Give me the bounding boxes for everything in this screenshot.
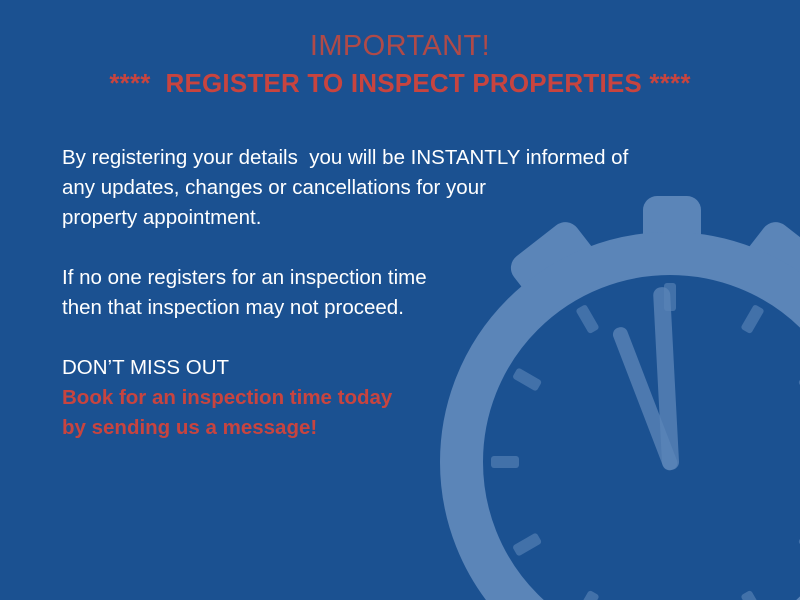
callout-line2: Book for an inspection time today	[62, 383, 722, 413]
paragraph2-line1: If no one registers for an inspection ti…	[62, 263, 722, 293]
paragraph1-line2: any updates, changes or cancellations fo…	[62, 173, 722, 203]
headline-register: **** REGISTER TO INSPECT PROPERTIES ****	[0, 64, 800, 103]
callout-line1: DON’T MISS OUT	[62, 353, 722, 383]
paragraph2-line2: then that inspection may not proceed.	[62, 293, 722, 323]
paragraph-spacer-2	[62, 323, 722, 353]
body-copy-group: By registering your details you will be …	[62, 143, 722, 443]
paragraph-spacer-1	[62, 233, 722, 263]
callout-line3: by sending us a message!	[62, 413, 722, 443]
headline-group: IMPORTANT! **** REGISTER TO INSPECT PROP…	[0, 28, 800, 103]
headline-important: IMPORTANT!	[0, 28, 800, 64]
paragraph1-line3: property appointment.	[62, 203, 722, 233]
stopwatch-right-button	[740, 216, 800, 308]
slide-canvas: IMPORTANT! **** REGISTER TO INSPECT PROP…	[0, 0, 800, 600]
paragraph1-line1: By registering your details you will be …	[62, 143, 722, 173]
